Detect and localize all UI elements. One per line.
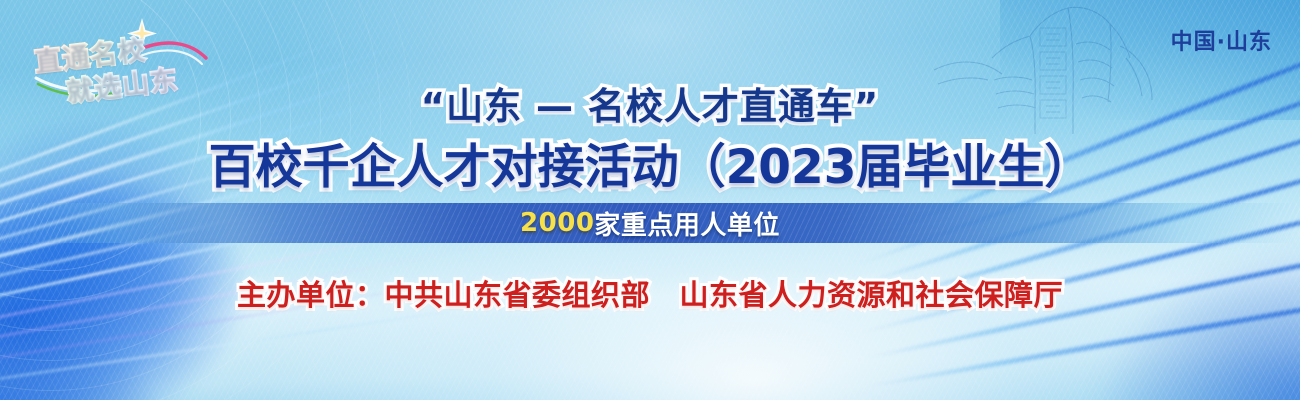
highlight-bar-suffix: 家重点用人单位: [594, 205, 780, 242]
event-banner: 直通名校 就选山东 中国·山东 “山东 — 名校人才直通车” 百校千企人才对接活…: [0, 0, 1300, 400]
page-title: 百校千企人才对接活动（2023届毕业生）: [0, 128, 1300, 197]
highlight-bar-text: 2000家重点用人单位: [0, 203, 1300, 243]
subtitle: “山东 — 名校人才直通车”: [0, 76, 1300, 130]
organizer-line: 主办单位：中共山东省委组织部 山东省人力资源和社会保障厅: [0, 272, 1300, 314]
region-label: 中国·山东: [1171, 24, 1272, 56]
highlight-bar-number: 2000: [520, 208, 594, 238]
